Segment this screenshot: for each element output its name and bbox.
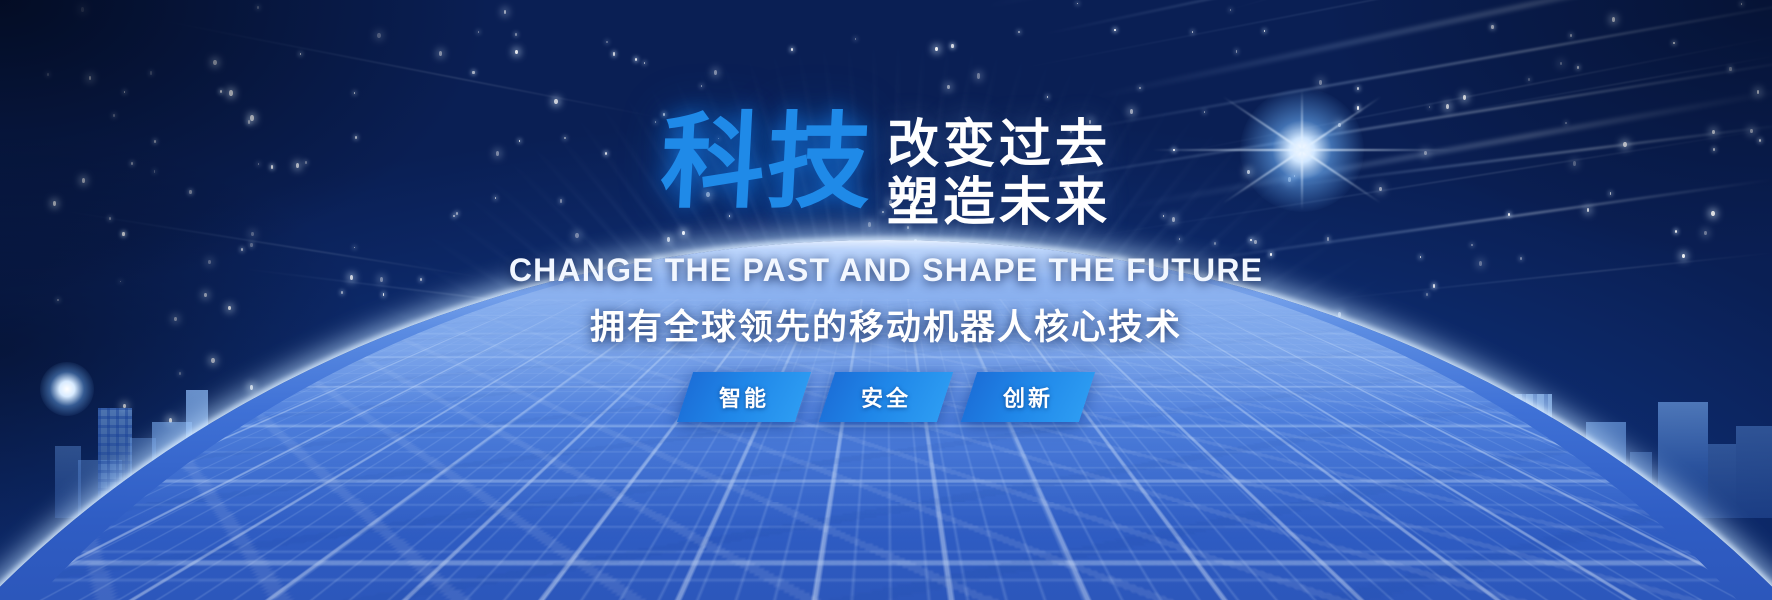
english-tagline: CHANGE THE PAST AND SHAPE THE FUTURE: [509, 252, 1263, 289]
tag-innovation[interactable]: 创新: [961, 372, 1095, 422]
tag-innovation-label: 创新: [1003, 381, 1053, 413]
headline-group: 科技 改变过去 塑造未来: [661, 108, 1111, 232]
subtitle: 拥有全球领先的移动机器人核心技术: [590, 299, 1182, 350]
headline-secondary-line-1: 改变过去: [887, 116, 1111, 174]
tag-safe-label: 安全: [861, 381, 911, 413]
tag-intelligent[interactable]: 智能: [677, 372, 811, 422]
headline-primary-wrap: 科技: [661, 108, 873, 217]
headline-secondary: 改变过去 塑造未来: [887, 108, 1111, 232]
tag-intelligent-label: 智能: [719, 381, 769, 413]
hero-banner: 科技 改变过去 塑造未来 CHANGE THE PAST AND SHAPE T…: [0, 0, 1772, 600]
tag-list: 智能 安全 创新: [685, 372, 1087, 422]
headline-primary: 科技: [658, 108, 876, 217]
headline-secondary-line-2: 塑造未来: [887, 174, 1111, 232]
tag-safe[interactable]: 安全: [819, 372, 953, 422]
banner-content: 科技 改变过去 塑造未来 CHANGE THE PAST AND SHAPE T…: [0, 108, 1772, 422]
